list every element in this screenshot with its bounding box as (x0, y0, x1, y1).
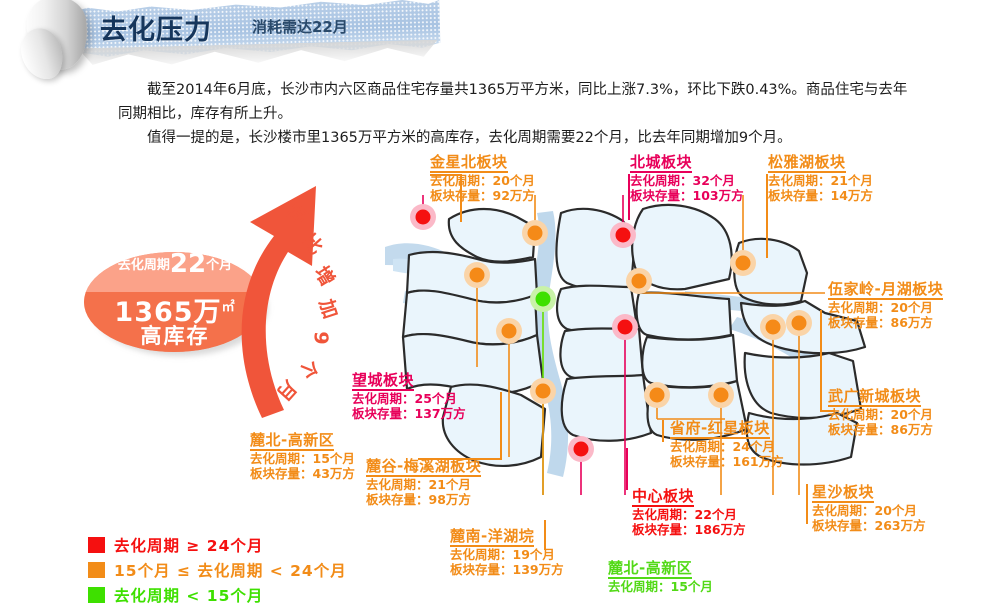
leader-beicheng (628, 174, 630, 220)
period-key: 去化周期： (450, 547, 513, 562)
map-svg (385, 195, 885, 495)
stock-key: 板块存量： (812, 518, 875, 533)
period-value: 22个月 (695, 507, 737, 522)
legend-swatch-green (88, 587, 105, 603)
callout-title: 伍家岭-月湖板块 (828, 282, 943, 300)
legend-item-orange: 15个月 ≤ 去化周期 < 24个月 (88, 559, 347, 581)
stock-value: 139万方 (513, 562, 564, 577)
legend-swatch-orange (88, 562, 105, 578)
stock-value: 14万方 (831, 188, 873, 203)
period-key: 去化周期： (670, 439, 733, 454)
callout-stock: 板块存量：263万方 (812, 518, 926, 533)
callout-period: 去化周期：15个月 (250, 451, 355, 466)
inventory-badge: 去化周期22个月 1365万㎡ 高库存 (84, 252, 266, 356)
period-key: 去化周期： (828, 407, 891, 422)
stock-key: 板块存量： (450, 562, 513, 577)
leader-lunan (544, 520, 546, 550)
badge-period-suffix: 个月 (206, 258, 232, 273)
period-key: 去化周期： (630, 173, 693, 188)
callout-period: 去化周期：20个月 (828, 407, 933, 422)
stock-key: 板块存量： (352, 406, 415, 421)
callout-stock: 板块存量：86万方 (828, 315, 943, 330)
stock-value: 161万方 (733, 454, 784, 469)
stock-key: 板块存量： (768, 188, 831, 203)
callout-period: 去化周期：24个月 (670, 439, 784, 454)
period-value: 15个月 (671, 579, 713, 594)
callout-stock: 板块存量：186万方 (632, 522, 746, 537)
period-value: 20个月 (891, 407, 933, 422)
callout-title: 望城板块 (352, 373, 414, 391)
intro-paragraph-2: 值得一提的是，长沙楼市里1365万平方米的高库存，去化周期需要22个月，比去年同… (118, 126, 918, 150)
period-key: 去化周期： (366, 477, 429, 492)
period-key: 去化周期： (352, 391, 415, 406)
callout-title: 武广新城板块 (828, 389, 921, 407)
callout-lubei-gaoxin-left: 麓北-高新区 去化周期：15个月 板块存量：43万方 (250, 432, 355, 481)
period-key: 去化周期： (250, 451, 313, 466)
callout-title: 麓南-洋湖垸 (450, 529, 534, 547)
callout-stock: 板块存量：43万方 (250, 466, 355, 481)
callout-wuguang-xincheng: 武广新城板块 去化周期：20个月 板块存量：86万方 (828, 388, 933, 437)
callout-jinxingbei: 金星北板块 去化周期：20个月 板块存量：92万方 (430, 154, 535, 203)
period-key: 去化周期： (812, 503, 875, 518)
period-value: 19个月 (513, 547, 555, 562)
callout-title: 北城板块 (630, 155, 692, 173)
callout-title: 麓北-高新区 (250, 433, 334, 451)
intro-paragraph-1: 截至2014年6月底，长沙市内六区商品住宅存量共1365万平方米，同比上涨7.3… (118, 78, 918, 126)
period-value: 20个月 (875, 503, 917, 518)
period-value: 21个月 (831, 173, 873, 188)
period-value: 20个月 (891, 300, 933, 315)
legend-item-red: 去化周期 ≥ 24个月 (88, 534, 347, 556)
arrow-char-4: 9 (309, 331, 331, 345)
stock-value: 86万方 (891, 422, 933, 437)
callout-title: 省府-红星板块 (670, 421, 770, 439)
stock-key: 板块存量： (632, 522, 695, 537)
callout-title: 中心板块 (632, 489, 694, 507)
legend-item-green: 去化周期 < 15个月 (88, 584, 347, 606)
badge-tag: 高库存 (84, 320, 266, 350)
stock-value: 98万方 (429, 492, 471, 507)
period-value: 32个月 (693, 173, 735, 188)
callout-period: 去化周期：22个月 (632, 507, 746, 522)
period-key: 去化周期： (608, 579, 671, 594)
period-value: 25个月 (415, 391, 457, 406)
callout-wangcheng: 望城板块 去化周期：25个月 板块存量：137万方 (352, 372, 466, 421)
callout-lunan-yanghuyuan: 麓南-洋湖垸 去化周期：19个月 板块存量：139万方 (450, 528, 564, 577)
callout-lugu-meixihu: 麓谷-梅溪湖板块 去化周期：21个月 板块存量：98万方 (366, 458, 481, 507)
stock-value: 186万方 (695, 522, 746, 537)
stock-value: 103万方 (693, 188, 744, 203)
intro-text: 截至2014年6月底，长沙市内六区商品住宅存量共1365万平方米，同比上涨7.3… (118, 78, 918, 150)
callout-songyahu: 松雅湖板块 去化周期：21个月 板块存量：14万方 (768, 154, 873, 203)
page-title: 去化压力 (100, 8, 212, 47)
stock-value: 137万方 (415, 406, 466, 421)
period-value: 20个月 (493, 173, 535, 188)
stock-key: 板块存量： (630, 188, 693, 203)
callout-period: 去化周期：15个月 (608, 579, 713, 594)
callout-stock: 板块存量：14万方 (768, 188, 873, 203)
callout-period: 去化周期：19个月 (450, 547, 564, 562)
badge-period-prefix: 去化周期 (118, 258, 170, 273)
callout-title: 麓北-高新区 (608, 561, 692, 579)
callout-stock: 板块存量：92万方 (430, 188, 535, 203)
callout-period: 去化周期：20个月 (812, 503, 926, 518)
stock-key: 板块存量： (828, 315, 891, 330)
leader-wuguang (820, 310, 822, 410)
stock-key: 板块存量： (828, 422, 891, 437)
leader-zhongxin (626, 448, 628, 490)
callout-title: 松雅湖板块 (768, 155, 846, 173)
leader-songyahu (766, 174, 768, 258)
callout-stock: 板块存量：137万方 (352, 406, 466, 421)
badge-period-line: 去化周期22个月 (84, 254, 266, 274)
stock-value: 92万方 (493, 188, 535, 203)
stock-key: 板块存量： (250, 466, 313, 481)
stock-value: 86万方 (891, 315, 933, 330)
callout-lubei-gaoxin-green: 麓北-高新区 去化周期：15个月 (608, 560, 713, 594)
legend-swatch-red (88, 537, 105, 553)
callout-xingsha: 星沙板块 去化周期：20个月 板块存量：263万方 (812, 484, 926, 533)
legend-label-orange: 15个月 ≤ 去化周期 < 24个月 (114, 559, 347, 581)
changsha-plate-map (385, 195, 885, 495)
callout-title: 金星北板块 (430, 155, 508, 173)
stock-value: 43万方 (313, 466, 355, 481)
callout-stock: 板块存量：98万方 (366, 492, 481, 507)
callout-wujialing-yuehu: 伍家岭-月湖板块 去化周期：20个月 板块存量：86万方 (828, 281, 943, 330)
period-key: 去化周期： (768, 173, 831, 188)
leader-wuguang-h (820, 410, 834, 412)
leader-xingsha (806, 484, 808, 524)
period-value: 21个月 (429, 477, 471, 492)
callout-period: 去化周期：21个月 (768, 173, 873, 188)
callout-stock: 板块存量：86万方 (828, 422, 933, 437)
callout-period: 去化周期：21个月 (366, 477, 481, 492)
callout-zhongxin: 中心板块 去化周期：22个月 板块存量：186万方 (632, 488, 746, 537)
period-value: 15个月 (313, 451, 355, 466)
callout-stock: 板块存量：139万方 (450, 562, 564, 577)
stock-key: 板块存量： (366, 492, 429, 507)
callout-stock: 板块存量：161万方 (670, 454, 784, 469)
leader-jinxingbei-v (460, 174, 462, 222)
leader-wangcheng-v (500, 392, 502, 458)
leader-jinxingbei-h (430, 174, 460, 176)
period-key: 去化周期： (828, 300, 891, 315)
callout-period: 去化周期：25个月 (352, 391, 466, 406)
callout-title: 麓谷-梅溪湖板块 (366, 459, 481, 477)
stock-value: 263万方 (875, 518, 926, 533)
callout-title: 星沙板块 (812, 485, 874, 503)
callout-period: 去化周期：20个月 (828, 300, 943, 315)
page-subtitle: 消耗需达22月 (252, 16, 348, 37)
legend: 去化周期 ≥ 24个月 15个月 ≤ 去化周期 < 24个月 去化周期 < 15… (88, 534, 347, 609)
callout-stock: 板块存量：103万方 (630, 188, 744, 203)
period-value: 24个月 (733, 439, 775, 454)
callout-beicheng: 北城板块 去化周期：32个月 板块存量：103万方 (630, 154, 744, 203)
callout-shengfu-hongxing: 省府-红星板块 去化周期：24个月 板块存量：161万方 (670, 420, 784, 469)
badge-period-number: 22 (170, 249, 206, 279)
period-key: 去化周期： (632, 507, 695, 522)
stock-key: 板块存量： (670, 454, 733, 469)
legend-label-green: 去化周期 < 15个月 (114, 584, 263, 606)
leader-shengfu (662, 420, 664, 442)
legend-label-red: 去化周期 ≥ 24个月 (114, 534, 263, 556)
badge-volume-unit: ㎡ (222, 300, 236, 315)
header-banner: 去化压力 消耗需达22月 (0, 0, 470, 62)
callout-period: 去化周期：32个月 (630, 173, 744, 188)
